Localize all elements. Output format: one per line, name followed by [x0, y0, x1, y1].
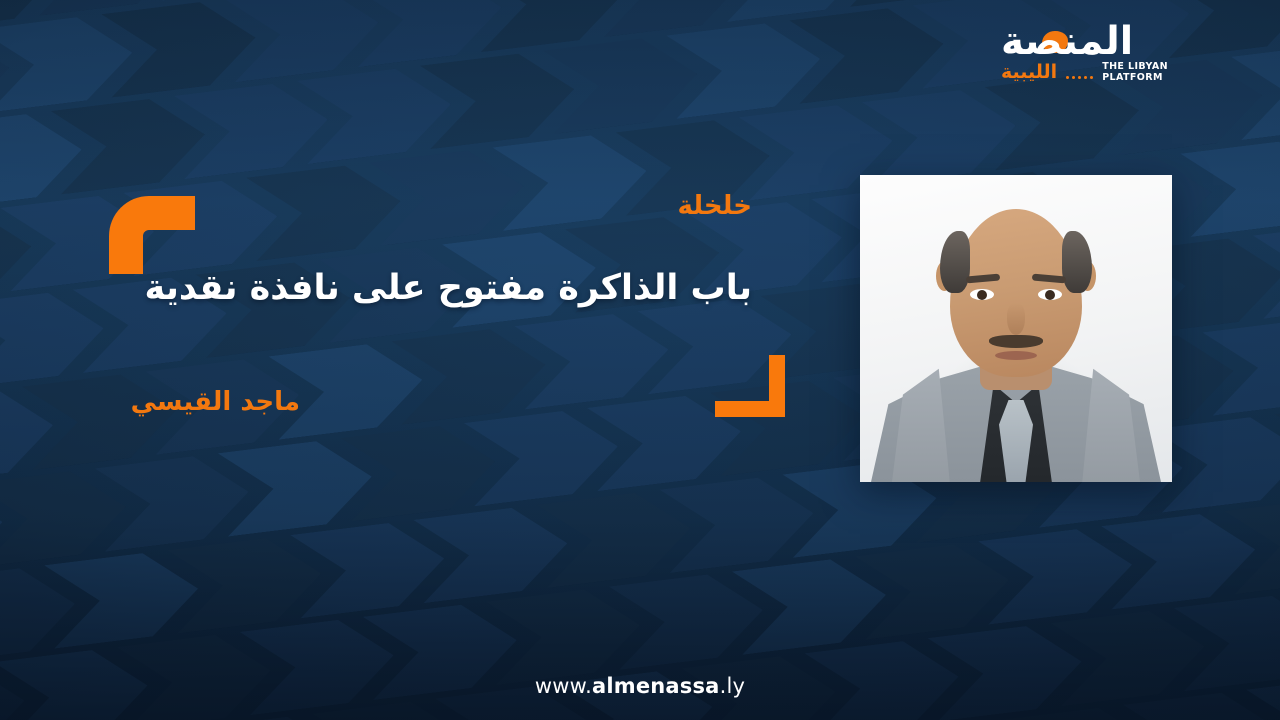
social-card: المنصة THE LIBYAN PLATFORM الليبية خلخلة… [0, 0, 1280, 720]
logo-subtitle-row: THE LIBYAN PLATFORM الليبية [1001, 61, 1168, 83]
logo-subtitle-ar: الليبية [1001, 63, 1057, 82]
logo-subtitle-en: THE LIBYAN PLATFORM [1102, 61, 1168, 83]
logo-wordmark-ar: المنصة [1001, 22, 1133, 61]
brand-logo[interactable]: المنصة THE LIBYAN PLATFORM الليبية [1001, 22, 1168, 83]
url-tld: .ly [720, 674, 746, 698]
article-author: ماجد القيسي [131, 389, 300, 415]
portrait-mouth [995, 351, 1037, 360]
quote-open-bracket-icon [109, 196, 195, 274]
quote-close-bracket-icon [715, 355, 785, 417]
portrait-nose [1007, 303, 1025, 335]
website-url[interactable]: www.almenassa.ly [0, 674, 1280, 698]
portrait-eye-left [970, 289, 994, 300]
article-category: خلخلة [678, 193, 752, 219]
portrait-moustache [989, 335, 1043, 348]
author-portrait [860, 175, 1172, 482]
article-headline: باب الذاكرة مفتوح على نافذة نقدية [132, 265, 752, 311]
url-prefix: www. [535, 674, 592, 698]
url-domain: almenassa [592, 674, 720, 698]
portrait-eye-right [1038, 289, 1062, 300]
logo-subtitle-en-line2: PLATFORM [1102, 72, 1168, 83]
logo-dots-icon [1066, 76, 1093, 79]
logo-wordmark-row: المنصة [1001, 22, 1133, 61]
